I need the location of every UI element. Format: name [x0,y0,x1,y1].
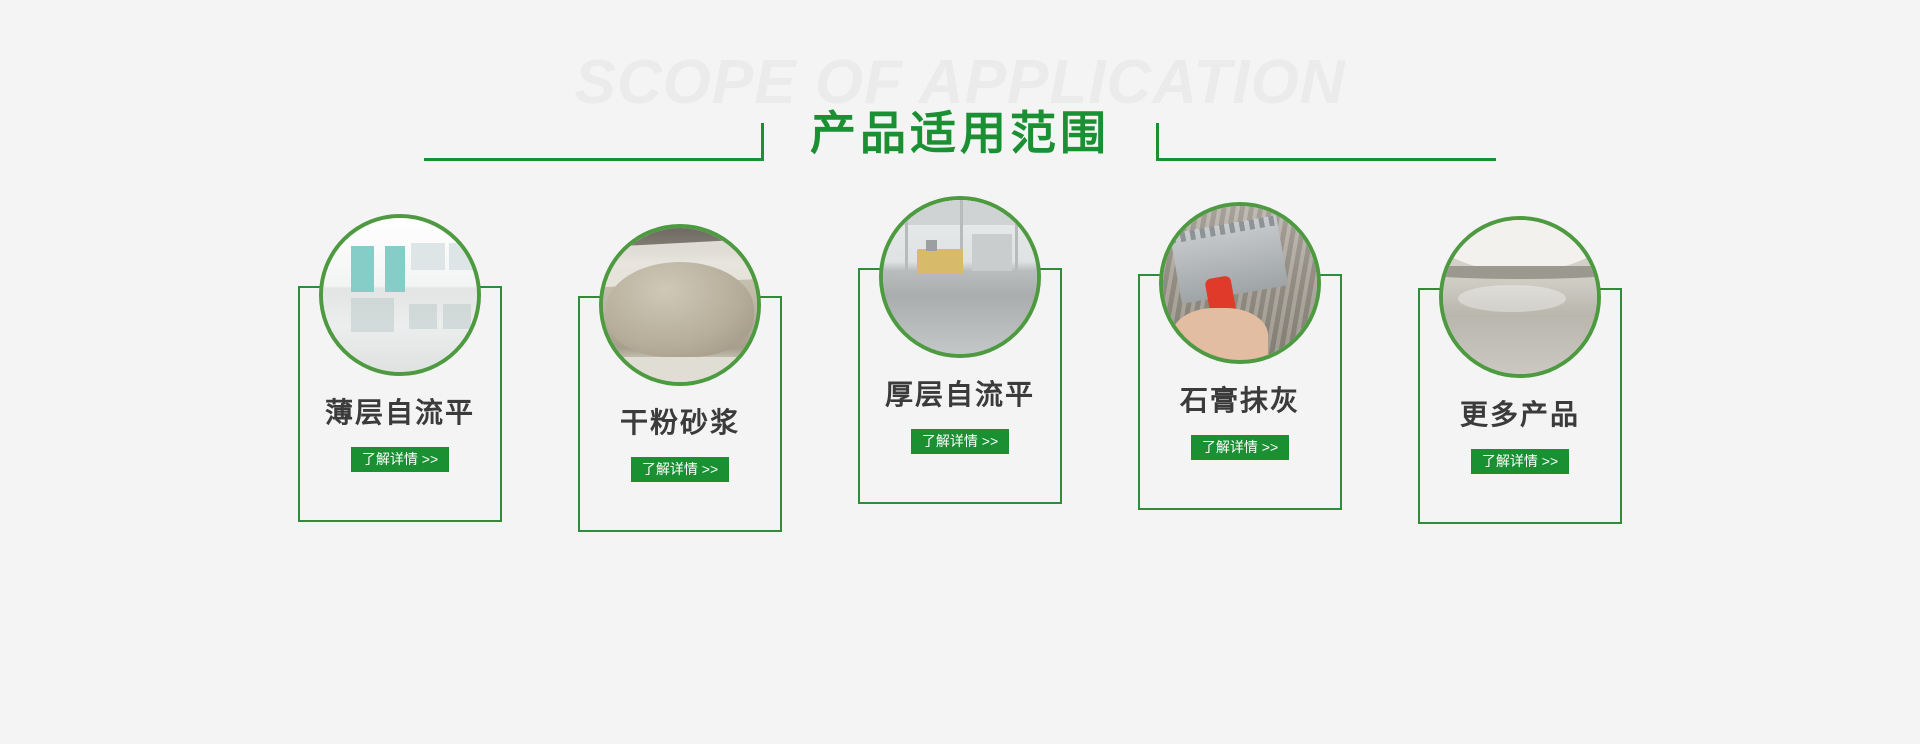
bracket-gap-bottom [606,529,754,533]
card-image-gypsum-plaster[interactable] [1159,202,1321,364]
title-rule-left [424,109,764,161]
scope-of-application-section: SCOPE OF APPLICATION 产品适用范围 [0,0,1920,744]
more-products-glossy-surface-photo [1443,220,1597,374]
application-card[interactable]: 石膏抹灰 了解详情 >> [1117,202,1363,460]
bracket-gap-bottom [326,519,474,523]
application-card[interactable]: 厚层自流平 了解详情 >> [837,196,1083,454]
learn-more-button[interactable]: 了解详情 >> [1191,435,1289,460]
application-card-list: 薄层自流平 了解详情 >> 干粉砂浆 了解详情 >> [0,196,1920,536]
dry-mix-mortar-pile-photo [603,228,757,382]
thin-layer-self-leveling-floor-photo [323,218,477,372]
card-label: 厚层自流平 [885,380,1035,411]
card-label: 干粉砂浆 [620,408,740,439]
bracket-gap-bottom [886,501,1034,505]
gypsum-plaster-trowel-photo [1163,206,1317,360]
page-title: 产品适用范围 [764,110,1156,156]
section-header: SCOPE OF APPLICATION 产品适用范围 [0,0,1920,200]
card-label: 石膏抹灰 [1180,386,1300,417]
card-label: 更多产品 [1460,400,1580,431]
card-image-thin-layer-self-leveling[interactable] [319,214,481,376]
rule-bar-right [1156,158,1496,161]
card-label: 薄层自流平 [325,398,475,429]
application-card[interactable]: 更多产品 了解详情 >> [1397,216,1643,474]
application-card[interactable]: 干粉砂浆 了解详情 >> [557,224,803,482]
title-row: 产品适用范围 [0,100,1920,170]
rule-tick-right [1156,123,1159,161]
learn-more-button[interactable]: 了解详情 >> [911,429,1009,454]
learn-more-button[interactable]: 了解详情 >> [1471,449,1569,474]
rule-bar-left [424,158,764,161]
title-rule-right [1156,109,1496,161]
thick-layer-self-leveling-hall-photo [883,200,1037,354]
bracket-gap-bottom [1446,521,1594,525]
learn-more-button[interactable]: 了解详情 >> [351,447,449,472]
card-image-more-products[interactable] [1439,216,1601,378]
application-card[interactable]: 薄层自流平 了解详情 >> [277,214,523,472]
bracket-gap-bottom [1166,507,1314,511]
learn-more-button[interactable]: 了解详情 >> [631,457,729,482]
card-image-thick-layer-self-leveling[interactable] [879,196,1041,358]
card-image-dry-mix-mortar[interactable] [599,224,761,386]
